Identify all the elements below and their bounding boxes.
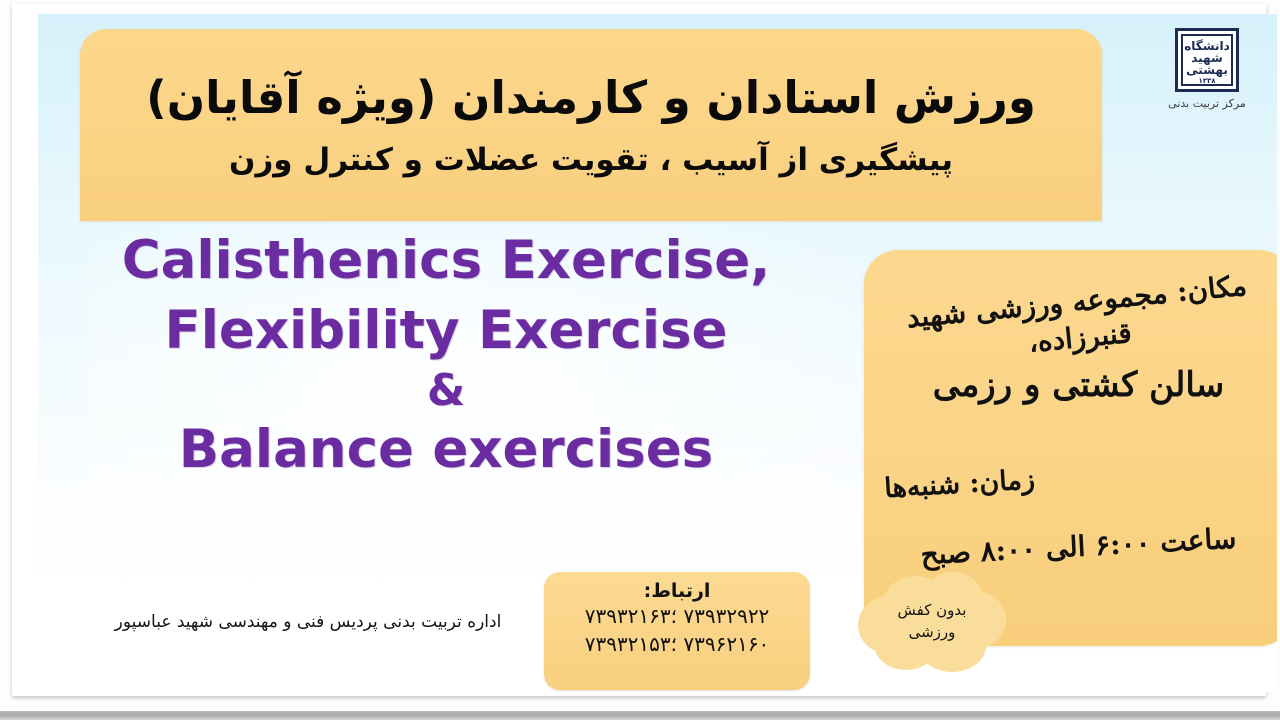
poster-title: ورزش استادان و کارمندان (ویژه آقایان) [80,29,1102,123]
screenshot-canvas: ورزش استادان و کارمندان (ویژه آقایان) پی… [0,0,1280,720]
cloud-text-line-2: ورزشی [909,622,956,644]
contact-phones-line-2: ۷۳۹۶۲۱۶۰ ؛۷۳۹۳۲۱۵۳ [544,630,810,658]
window-bottom-bar [0,711,1280,720]
schedule-time: ساعت ۶:۰۰ الی ۸:۰۰ صبح [875,519,1277,573]
cloud-callout-text: بدون کفش ورزشی [856,570,1008,674]
contact-box: ارتباط: ۷۳۹۳۲۹۲۲ ؛۷۳۹۳۲۱۶۳ ۷۳۹۶۲۱۶۰ ؛۷۳۹… [544,572,810,690]
contact-phones-line-1: ۷۳۹۳۲۹۲۲ ؛۷۳۹۳۲۱۶۳ [544,602,810,630]
logo-caption: مرکز تربیت بدنی [1151,97,1263,110]
headline-line-4: Balance exercises [46,415,846,485]
cloud-callout: بدون کفش ورزشی [856,570,1008,674]
poster-slide: ورزش استادان و کارمندان (ویژه آقایان) پی… [38,14,1277,692]
venue-hall: سالن کشتی و رزمی [876,364,1277,407]
university-logo-icon: دانشگاه شهید بهشتی ۱۳۳۸ [1175,28,1239,92]
venue-place: مکان: مجموعه ورزشی شهید قنبرزاده، [873,265,1277,376]
slide-frame: ورزش استادان و کارمندان (ویژه آقایان) پی… [12,4,1266,696]
headline-ampersand: & [46,367,846,415]
poster-subtitle: پیشگیری از آسیب ، تقویت عضلات و کنترل وز… [80,123,1102,179]
logo-foundation-year: ۱۳۳۸ [1178,77,1236,85]
contact-title: ارتباط: [544,580,810,602]
headline-line-1: Calisthenics Exercise, [46,226,846,296]
headline-line-2: Flexibility Exercise [46,296,846,366]
university-logo-block: دانشگاه شهید بهشتی ۱۳۳۸ مرکز تربیت بدنی [1151,28,1263,110]
english-headline: Calisthenics Exercise, Flexibility Exerc… [46,226,846,486]
organiser-footer: اداره تربیت بدنی پردیس فنی و مهندسی شهید… [78,612,538,632]
header-banner: ورزش استادان و کارمندان (ویژه آقایان) پی… [80,29,1102,221]
schedule-day: زمان: شنبه‌ها [875,450,1267,505]
cloud-text-line-1: بدون کفش [898,600,967,622]
